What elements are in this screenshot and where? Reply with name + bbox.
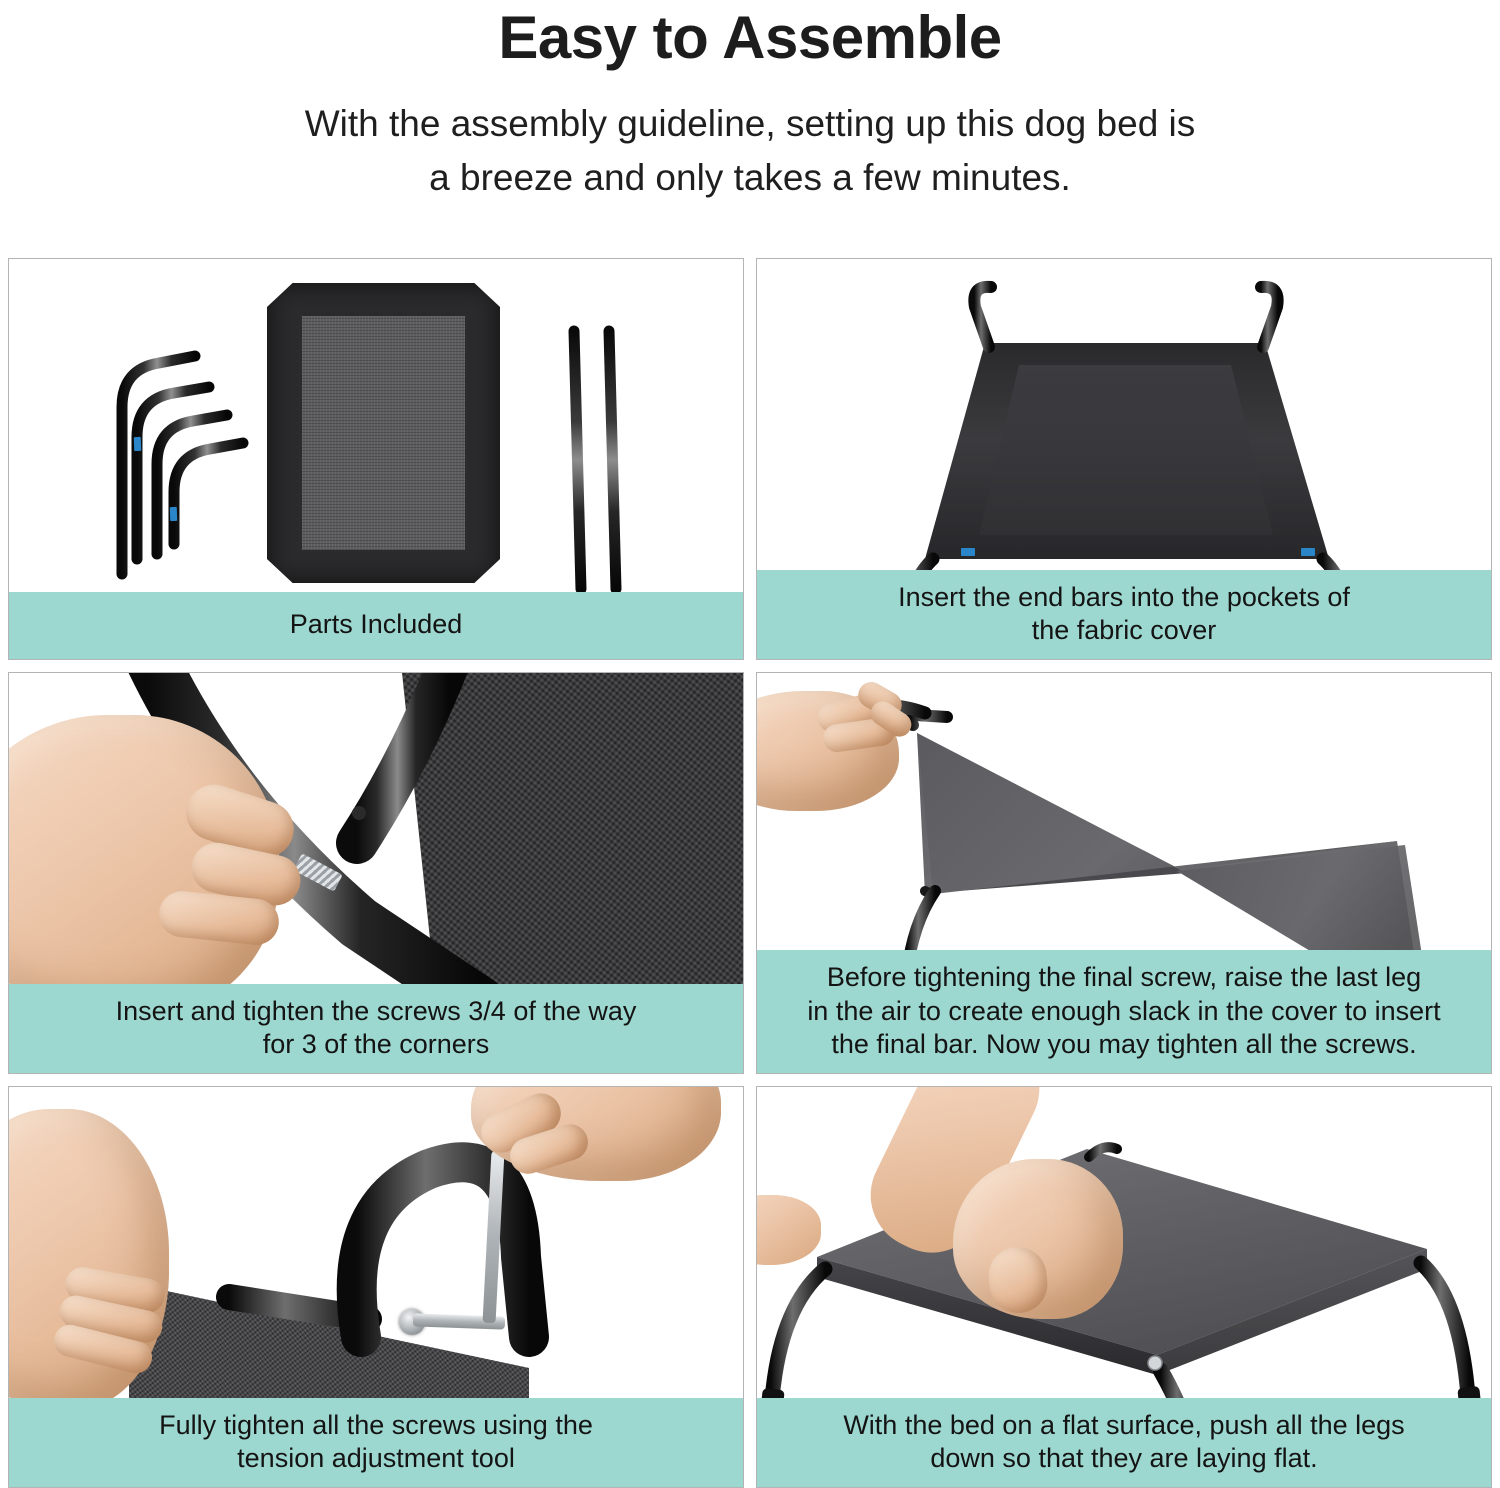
caption-line: Fully tighten all the screws using the — [23, 1409, 729, 1442]
step-panel-parts-included: Parts Included — [8, 258, 744, 660]
caption-line: Insert and tighten the screws 3/4 of the… — [23, 995, 729, 1028]
frame-blue-marker-left — [961, 548, 975, 556]
page-title: Easy to Assemble — [0, 6, 1500, 69]
caption-line: down so that they are laying flat. — [771, 1442, 1477, 1475]
step-panel-raise-last-leg: Before tightening the final screw, raise… — [756, 672, 1492, 1074]
caption-line: Before tightening the final screw, raise… — [771, 961, 1477, 994]
step-caption-insert-and-tighten-screws: Insert and tighten the screws 3/4 of the… — [9, 984, 743, 1073]
leg-blue-marker-2 — [170, 507, 177, 521]
caption-line: for 3 of the corners — [23, 1028, 729, 1061]
fabric-cover — [267, 283, 500, 583]
caption-line: tension adjustment tool — [23, 1442, 729, 1475]
caption-line: the final bar. Now you may tighten all t… — [771, 1028, 1477, 1061]
leg-blue-marker-1 — [134, 437, 141, 451]
caption-line: Insert the end bars into the pockets of — [771, 581, 1477, 614]
step-panel-fully-tighten-screws: Fully tighten all the screws using the t… — [8, 1086, 744, 1488]
step-caption-fully-tighten-screws: Fully tighten all the screws using the t… — [9, 1398, 743, 1487]
step-panel-insert-end-bars: Insert the end bars into the pockets of … — [756, 258, 1492, 660]
page-subtitle-line-2: a breeze and only takes a few minutes. — [0, 151, 1500, 205]
frame-blue-marker-right — [1301, 548, 1315, 556]
step-caption-raise-last-leg: Before tightening the final screw, raise… — [757, 950, 1491, 1073]
page-header: Easy to Assemble With the assembly guide… — [0, 0, 1500, 204]
page-subtitle-line-1: With the assembly guideline, setting up … — [0, 97, 1500, 151]
fabric-cover-mesh-panel — [302, 316, 465, 550]
caption-line: the fabric cover — [771, 614, 1477, 647]
caption-line: Parts Included — [23, 608, 729, 641]
step-grid: Parts Included — [8, 258, 1492, 1488]
step-caption-parts-included: Parts Included — [9, 592, 743, 659]
step-panel-insert-and-tighten-screws: Insert and tighten the screws 3/4 of the… — [8, 672, 744, 1074]
page-subtitle: With the assembly guideline, setting up … — [0, 97, 1500, 204]
step-caption-push-legs-flat: With the bed on a flat surface, push all… — [757, 1398, 1491, 1487]
assembly-instructions-page: Easy to Assemble With the assembly guide… — [0, 0, 1500, 1488]
caption-line: in the air to create enough slack in the… — [771, 995, 1477, 1028]
caption-line: With the bed on a flat surface, push all… — [771, 1409, 1477, 1442]
step-panel-push-legs-flat: With the bed on a flat surface, push all… — [756, 1086, 1492, 1488]
step-caption-insert-end-bars: Insert the end bars into the pockets of … — [757, 570, 1491, 659]
